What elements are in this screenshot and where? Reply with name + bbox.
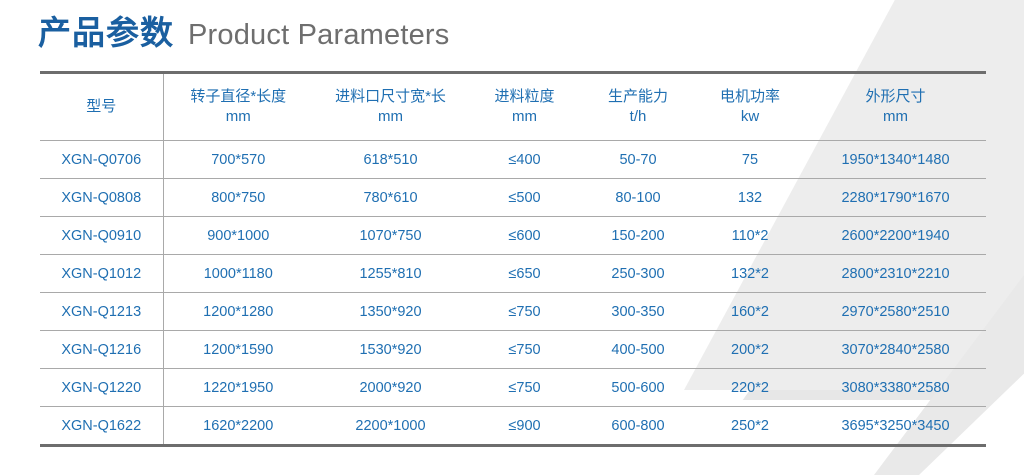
column-header-motor-power-label: 电机功率 bbox=[697, 87, 803, 107]
column-header-rotor-size-label: 转子直径*长度 bbox=[166, 87, 312, 107]
cell-rotor-size: 1200*1590 bbox=[163, 331, 313, 369]
column-header-model-label: 型号 bbox=[42, 97, 161, 117]
cell-feed-opening: 1070*750 bbox=[313, 217, 468, 255]
cell-motor-power: 132*2 bbox=[695, 255, 805, 293]
cell-feed-granularity: ≤900 bbox=[468, 407, 581, 446]
page-title-english: Product Parameters bbox=[188, 21, 450, 50]
table-body: XGN-Q0706700*570618*510≤40050-70751950*1… bbox=[40, 141, 986, 446]
column-header-model: 型号 bbox=[40, 73, 163, 141]
cell-model: XGN-Q1220 bbox=[40, 369, 163, 407]
table-row: XGN-Q12131200*12801350*920≤750300-350160… bbox=[40, 293, 986, 331]
cell-feed-opening: 1255*810 bbox=[313, 255, 468, 293]
cell-overall-dimensions: 3695*3250*3450 bbox=[805, 407, 986, 446]
column-header-motor-power-unit: kw bbox=[697, 107, 803, 127]
column-header-feed-granularity: 进料粒度 mm bbox=[468, 73, 581, 141]
cell-model: XGN-Q1622 bbox=[40, 407, 163, 446]
column-header-capacity: 生产能力 t/h bbox=[581, 73, 695, 141]
column-header-rotor-size: 转子直径*长度 mm bbox=[163, 73, 313, 141]
cell-overall-dimensions: 3070*2840*2580 bbox=[805, 331, 986, 369]
cell-capacity: 300-350 bbox=[581, 293, 695, 331]
table-row: XGN-Q0808800*750780*610≤50080-1001322280… bbox=[40, 179, 986, 217]
column-header-feed-granularity-label: 进料粒度 bbox=[470, 87, 579, 107]
cell-feed-granularity: ≤750 bbox=[468, 369, 581, 407]
cell-capacity: 50-70 bbox=[581, 141, 695, 179]
cell-motor-power: 110*2 bbox=[695, 217, 805, 255]
cell-model: XGN-Q1012 bbox=[40, 255, 163, 293]
cell-overall-dimensions: 2600*2200*1940 bbox=[805, 217, 986, 255]
table-header-row: 型号 转子直径*长度 mm 进料口尺寸宽*长 mm 进料粒度 mm bbox=[40, 73, 986, 141]
cell-feed-opening: 2000*920 bbox=[313, 369, 468, 407]
table-row: XGN-Q16221620*22002200*1000≤900600-80025… bbox=[40, 407, 986, 446]
cell-feed-opening: 1530*920 bbox=[313, 331, 468, 369]
product-parameters-page: 产品参数 Product Parameters 型号 转子直径*长度 mm 进料… bbox=[0, 0, 1024, 475]
column-header-capacity-label: 生产能力 bbox=[583, 87, 693, 107]
column-header-overall-dimensions: 外形尺寸 mm bbox=[805, 73, 986, 141]
column-header-feed-opening-unit: mm bbox=[315, 107, 466, 127]
cell-motor-power: 75 bbox=[695, 141, 805, 179]
product-parameters-table: 型号 转子直径*长度 mm 进料口尺寸宽*长 mm 进料粒度 mm bbox=[40, 71, 986, 447]
cell-rotor-size: 1200*1280 bbox=[163, 293, 313, 331]
cell-motor-power: 250*2 bbox=[695, 407, 805, 446]
cell-feed-granularity: ≤600 bbox=[468, 217, 581, 255]
cell-model: XGN-Q1213 bbox=[40, 293, 163, 331]
cell-rotor-size: 1000*1180 bbox=[163, 255, 313, 293]
page-title-chinese: 产品参数 bbox=[38, 16, 174, 49]
cell-motor-power: 132 bbox=[695, 179, 805, 217]
cell-motor-power: 200*2 bbox=[695, 331, 805, 369]
cell-feed-granularity: ≤500 bbox=[468, 179, 581, 217]
column-header-feed-opening: 进料口尺寸宽*长 mm bbox=[313, 73, 468, 141]
table-row: XGN-Q0706700*570618*510≤40050-70751950*1… bbox=[40, 141, 986, 179]
cell-capacity: 150-200 bbox=[581, 217, 695, 255]
page-header: 产品参数 Product Parameters bbox=[38, 16, 450, 50]
column-header-motor-power: 电机功率 kw bbox=[695, 73, 805, 141]
cell-feed-granularity: ≤750 bbox=[468, 331, 581, 369]
cell-feed-opening: 618*510 bbox=[313, 141, 468, 179]
cell-capacity: 250-300 bbox=[581, 255, 695, 293]
cell-model: XGN-Q1216 bbox=[40, 331, 163, 369]
cell-motor-power: 220*2 bbox=[695, 369, 805, 407]
cell-overall-dimensions: 3080*3380*2580 bbox=[805, 369, 986, 407]
cell-rotor-size: 1620*2200 bbox=[163, 407, 313, 446]
cell-feed-granularity: ≤400 bbox=[468, 141, 581, 179]
cell-model: XGN-Q0910 bbox=[40, 217, 163, 255]
cell-capacity: 400-500 bbox=[581, 331, 695, 369]
cell-capacity: 80-100 bbox=[581, 179, 695, 217]
table-row: XGN-Q12161200*15901530*920≤750400-500200… bbox=[40, 331, 986, 369]
cell-feed-granularity: ≤650 bbox=[468, 255, 581, 293]
cell-overall-dimensions: 2280*1790*1670 bbox=[805, 179, 986, 217]
cell-feed-opening: 2200*1000 bbox=[313, 407, 468, 446]
cell-feed-opening: 780*610 bbox=[313, 179, 468, 217]
column-header-feed-granularity-unit: mm bbox=[470, 107, 579, 127]
table-row: XGN-Q10121000*11801255*810≤650250-300132… bbox=[40, 255, 986, 293]
cell-model: XGN-Q0808 bbox=[40, 179, 163, 217]
column-header-feed-opening-label: 进料口尺寸宽*长 bbox=[315, 87, 466, 107]
cell-rotor-size: 900*1000 bbox=[163, 217, 313, 255]
table-row: XGN-Q0910900*10001070*750≤600150-200110*… bbox=[40, 217, 986, 255]
cell-motor-power: 160*2 bbox=[695, 293, 805, 331]
cell-capacity: 500-600 bbox=[581, 369, 695, 407]
table-row: XGN-Q12201220*19502000*920≤750500-600220… bbox=[40, 369, 986, 407]
cell-rotor-size: 800*750 bbox=[163, 179, 313, 217]
column-header-rotor-size-unit: mm bbox=[166, 107, 312, 127]
table-header: 型号 转子直径*长度 mm 进料口尺寸宽*长 mm 进料粒度 mm bbox=[40, 73, 986, 141]
cell-feed-granularity: ≤750 bbox=[468, 293, 581, 331]
cell-capacity: 600-800 bbox=[581, 407, 695, 446]
cell-rotor-size: 1220*1950 bbox=[163, 369, 313, 407]
cell-overall-dimensions: 1950*1340*1480 bbox=[805, 141, 986, 179]
spec-table-container: 型号 转子直径*长度 mm 进料口尺寸宽*长 mm 进料粒度 mm bbox=[40, 71, 986, 447]
cell-model: XGN-Q0706 bbox=[40, 141, 163, 179]
cell-rotor-size: 700*570 bbox=[163, 141, 313, 179]
column-header-overall-dimensions-label: 外形尺寸 bbox=[807, 87, 984, 107]
column-header-overall-dimensions-unit: mm bbox=[807, 107, 984, 127]
cell-overall-dimensions: 2800*2310*2210 bbox=[805, 255, 986, 293]
cell-overall-dimensions: 2970*2580*2510 bbox=[805, 293, 986, 331]
cell-feed-opening: 1350*920 bbox=[313, 293, 468, 331]
column-header-capacity-unit: t/h bbox=[583, 107, 693, 127]
